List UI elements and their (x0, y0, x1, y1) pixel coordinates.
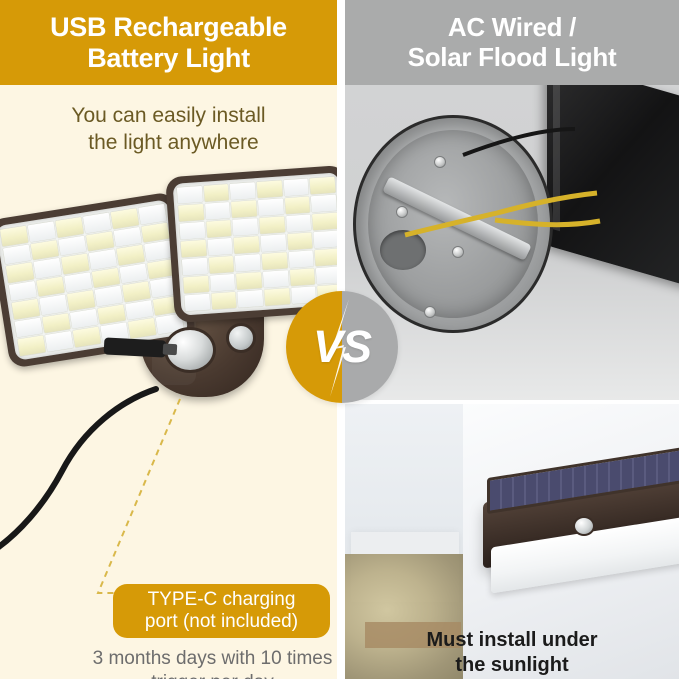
left-caption-line1: You can easily install (71, 104, 265, 127)
right-bottom-caption: Must install under the sunlight (345, 626, 679, 679)
header-right: AC Wired / Solar Flood Light (345, 0, 679, 85)
vs-badge-label: VS (286, 291, 398, 403)
led-fixture-illustration (0, 163, 322, 423)
type-c-callout-badge: TYPE-C charging port (not included) (113, 584, 330, 638)
battery-life-line1: 3 months days with 10 (93, 648, 282, 669)
header-left-text: USB Rechargeable Battery Light (50, 12, 287, 73)
vs-badge: VS (286, 291, 398, 403)
right-bottom-line1: Must install under (426, 628, 597, 653)
right-bottom-line2: the sunlight (426, 653, 597, 678)
battery-life-note: 3 months days with 10 times trigger per … (90, 647, 335, 679)
light-sensor-icon (226, 323, 256, 353)
led-lens-left (0, 199, 189, 361)
header-right-text: AC Wired / Solar Flood Light (408, 13, 617, 72)
header-left-line2: Battery Light (50, 43, 287, 74)
callout-leader-lines (20, 395, 320, 610)
pill-line1: TYPE-C charging (145, 589, 298, 611)
right-bottom-caption-text: Must install under the sunlight (426, 628, 597, 678)
infographic-page: USB Rechargeable Battery Light AC Wired … (0, 0, 679, 679)
header-right-line2: Solar Flood Light (408, 43, 617, 72)
header-right-line1: AC Wired / (408, 13, 617, 42)
header-left-line1: USB Rechargeable (50, 12, 287, 43)
solar-motion-sensor-icon (573, 516, 595, 536)
usb-c-plug-icon (104, 337, 167, 357)
header-left: USB Rechargeable Battery Light (0, 0, 337, 85)
left-caption-line2: the light anywhere (0, 130, 337, 157)
left-caption: You can easily install the light anywher… (0, 103, 337, 157)
type-c-callout-text: TYPE-C charging port (not included) (145, 589, 298, 633)
pill-line2: port (not included) (145, 611, 298, 633)
